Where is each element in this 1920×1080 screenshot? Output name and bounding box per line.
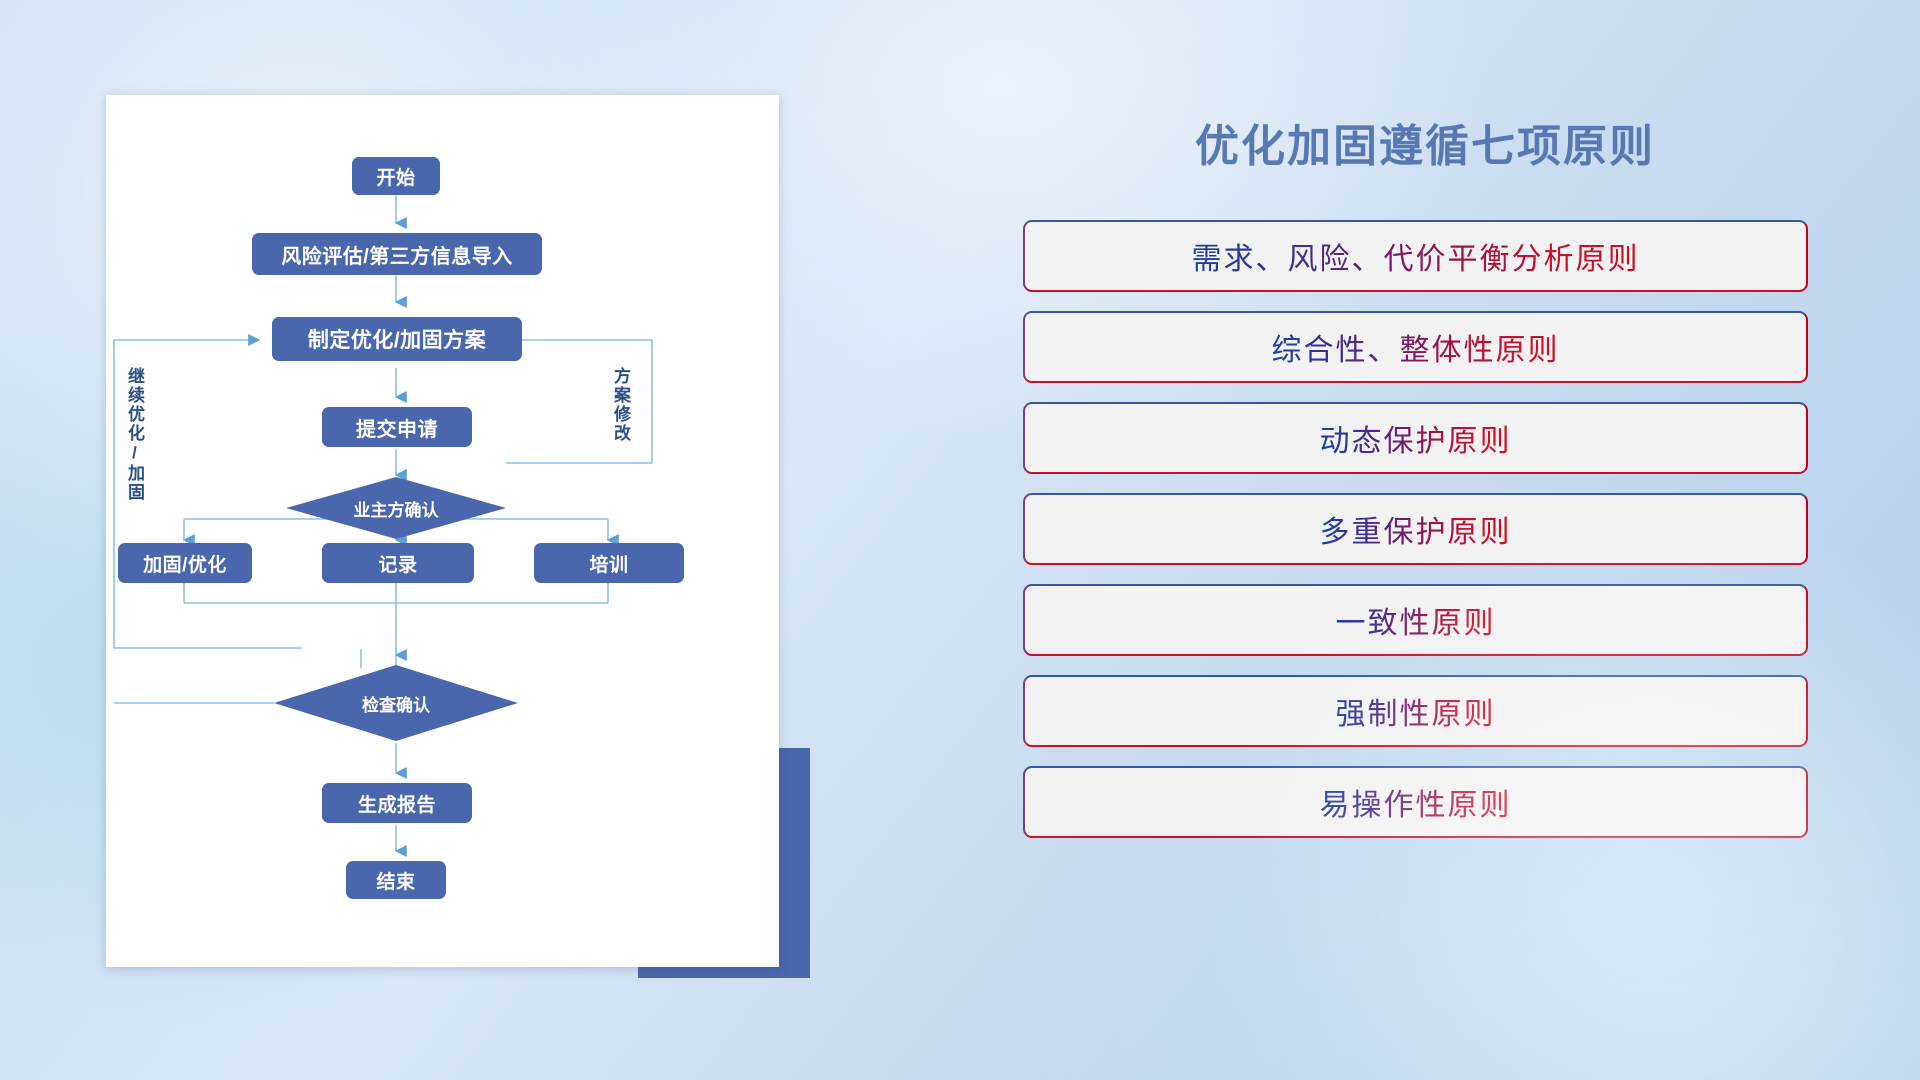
node-generate-report-label: 生成报告 [358,790,436,817]
principle-item-5[interactable]: 一致性原则 [1023,584,1808,656]
principle-item-2-label: 综合性、整体性原则 [1272,325,1560,369]
edge-label-continue-optimize-text: 继续优化/加固 [125,367,144,502]
node-start: 开始 [352,157,440,195]
principle-item-7[interactable]: 易操作性原则 [1023,766,1808,838]
edge-label-plan-revision-text: 方案修改 [611,367,630,443]
node-inspect-confirm: 检查确认 [306,690,486,716]
node-record: 记录 [322,543,474,583]
principle-item-1[interactable]: 需求、风险、代价平衡分析原则 [1023,220,1808,292]
node-risk-assessment: 风险评估/第三方信息导入 [252,233,542,275]
principle-item-3-label: 动态保护原则 [1320,416,1512,460]
principle-item-3[interactable]: 动态保护原则 [1023,402,1808,474]
node-inspect-confirm-label: 检查确认 [362,691,430,716]
edge-label-continue-optimize: 继续优化/加固 [126,367,143,502]
node-owner-confirm-label: 业主方确认 [354,496,439,521]
principle-item-6[interactable]: 强制性原则 [1023,675,1808,747]
principle-item-2[interactable]: 综合性、整体性原则 [1023,311,1808,383]
node-owner-confirm: 业主方确认 [306,495,486,521]
slide-canvas: 开始 风险评估/第三方信息导入 制定优化/加固方案 提交申请 业主方确认 加固/… [0,0,1920,1080]
node-end-label: 结束 [376,867,415,894]
principle-item-4[interactable]: 多重保护原则 [1023,493,1808,565]
node-make-plan: 制定优化/加固方案 [272,317,522,361]
node-record-label: 记录 [378,550,417,577]
principles-panel: 优化加固遵循七项原则 需求、风险、代价平衡分析原则 综合性、整体性原则 动态保护… [1020,95,1830,1005]
node-make-plan-label: 制定优化/加固方案 [308,324,486,354]
node-generate-report: 生成报告 [322,783,472,823]
node-submit-application-label: 提交申请 [356,413,438,442]
flowchart-connectors [106,95,779,967]
node-submit-application: 提交申请 [322,407,472,447]
node-training: 培训 [534,543,684,583]
principle-item-7-label: 易操作性原则 [1320,780,1512,824]
flowchart-card: 开始 风险评估/第三方信息导入 制定优化/加固方案 提交申请 业主方确认 加固/… [106,95,779,967]
principle-item-5-label: 一致性原则 [1336,598,1496,642]
principle-item-6-label: 强制性原则 [1336,689,1496,733]
edge-label-plan-revision: 方案修改 [612,367,629,443]
node-risk-assessment-label: 风险评估/第三方信息导入 [281,240,513,269]
node-reinforce-optimize: 加固/优化 [118,543,252,583]
node-training-label: 培训 [589,550,628,577]
node-reinforce-optimize-label: 加固/优化 [143,550,227,577]
principles-title: 优化加固遵循七项原则 [1020,110,1830,174]
principle-item-1-label: 需求、风险、代价平衡分析原则 [1192,234,1640,278]
node-end: 结束 [346,861,446,899]
node-start-label: 开始 [376,163,415,190]
principle-item-4-label: 多重保护原则 [1320,507,1512,551]
